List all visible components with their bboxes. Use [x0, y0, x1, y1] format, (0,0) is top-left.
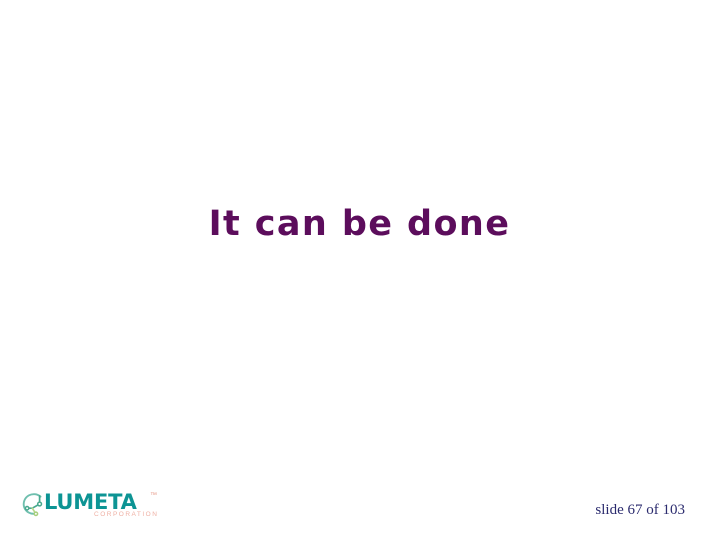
- logo-subtitle: CORPORATION: [94, 511, 158, 519]
- slide-title: It can be done: [0, 203, 719, 245]
- network-globe-icon: [19, 492, 45, 520]
- slide-counter: slide 67 of 103: [595, 501, 685, 519]
- trademark-symbol: ™: [150, 492, 157, 500]
- lumeta-wordmark: LUMETA ™ CORPORATION: [44, 491, 152, 523]
- logo-name: LUMETA: [44, 491, 137, 513]
- lumeta-logo: LUMETA ™ CORPORATION: [19, 490, 151, 524]
- presentation-slide: It can be done LUMETA ™ CORPORATION slid…: [0, 0, 719, 539]
